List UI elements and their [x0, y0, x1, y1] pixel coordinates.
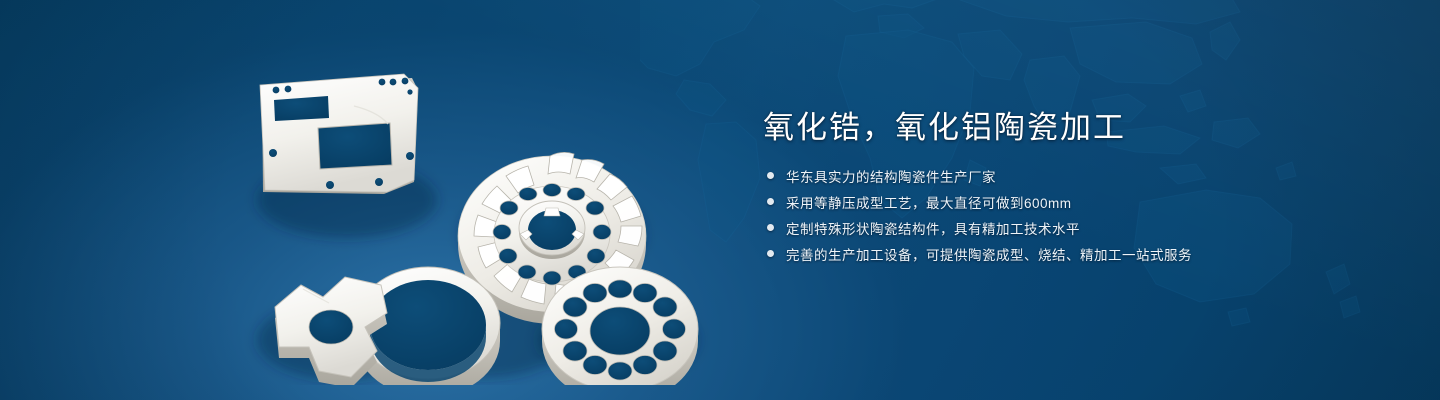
bullet-dot-icon	[767, 224, 774, 231]
list-item-label: 华东具实力的结构陶瓷件生产厂家	[786, 166, 996, 186]
bullet-dot-icon	[767, 172, 774, 179]
banner-copy: 氧化锆，氧化铝陶瓷加工 华东具实力的结构陶瓷件生产厂家 采用等静压成型工艺，最大…	[763, 108, 1383, 269]
feature-list: 华东具实力的结构陶瓷件生产厂家 采用等静压成型工艺，最大直径可做到600mm 定…	[767, 165, 1383, 264]
list-item: 华东具实力的结构陶瓷件生产厂家	[767, 165, 1383, 186]
list-item-label: 采用等静压成型工艺，最大直径可做到600mm	[786, 192, 1072, 212]
product-image-group	[232, 40, 722, 385]
headline: 氧化锆，氧化铝陶瓷加工	[763, 108, 1383, 148]
promo-banner: 氧化锆，氧化铝陶瓷加工 华东具实力的结构陶瓷件生产厂家 采用等静压成型工艺，最大…	[0, 0, 1440, 400]
list-item: 定制特殊形状陶瓷结构件，具有精加工技术水平	[767, 217, 1383, 238]
list-item-label: 定制特殊形状陶瓷结构件，具有精加工技术水平	[786, 218, 1080, 238]
ceramic-perforated-disc-shape	[542, 267, 698, 385]
list-item: 采用等静压成型工艺，最大直径可做到600mm	[767, 191, 1383, 212]
ceramic-base-plate-shape	[260, 74, 418, 194]
list-item: 完善的生产加工设备，可提供陶瓷成型、烧结、精加工一站式服务	[767, 243, 1383, 264]
bullet-dot-icon	[767, 198, 774, 205]
bullet-dot-icon	[767, 250, 774, 257]
list-item-label: 完善的生产加工设备，可提供陶瓷成型、烧结、精加工一站式服务	[786, 244, 1192, 264]
